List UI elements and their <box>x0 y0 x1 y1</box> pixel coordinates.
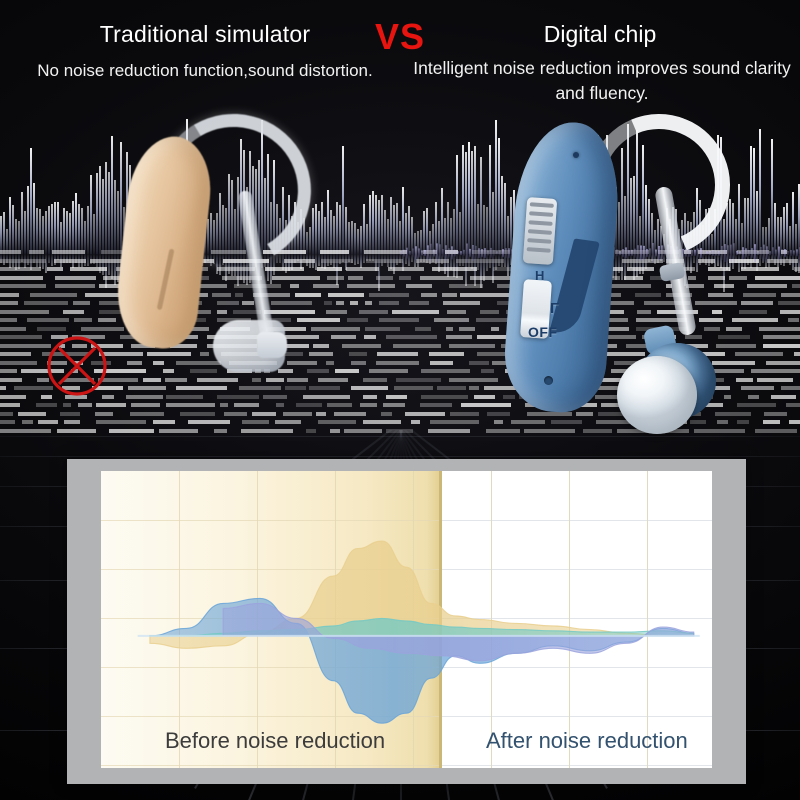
before-label: Before noise reduction <box>165 728 385 754</box>
traditional-aid-body <box>112 132 216 351</box>
left-subtitle: No noise reduction function,sound distor… <box>16 61 394 81</box>
left-title: Traditional simulator <box>60 21 350 48</box>
after-label: After noise reduction <box>486 728 688 754</box>
switch-label-t: Γ <box>550 300 559 317</box>
header: Traditional simulator No noise reduction… <box>0 0 800 110</box>
digital-aid-body <box>501 119 623 415</box>
right-subtitle: Intelligent noise reduction improves sou… <box>412 56 792 106</box>
comparison-chart: Before noise reduction After noise reduc… <box>101 471 712 768</box>
right-title: Digital chip <box>450 21 750 48</box>
digital-ear-dome <box>617 356 697 434</box>
volume-wheel[interactable] <box>523 197 558 265</box>
traditional-ear-dome <box>213 320 285 372</box>
vs-label: VS <box>358 16 442 58</box>
microphone-port-icon <box>573 152 579 158</box>
waveform-plot <box>101 471 712 768</box>
traditional-hearing-aid <box>105 112 305 377</box>
digital-hearing-aid: H Γ OFF <box>495 108 745 453</box>
digital-accent-stripe <box>549 238 600 335</box>
product-comparison-image: Traditional simulator No noise reduction… <box>0 0 800 800</box>
circle-x-icon <box>46 335 108 397</box>
comparison-panel: Before noise reduction After noise reduc… <box>67 459 746 784</box>
secondary-port-icon <box>544 376 553 385</box>
switch-label-off: OFF <box>528 324 558 340</box>
switch-label-h: H <box>535 268 544 283</box>
